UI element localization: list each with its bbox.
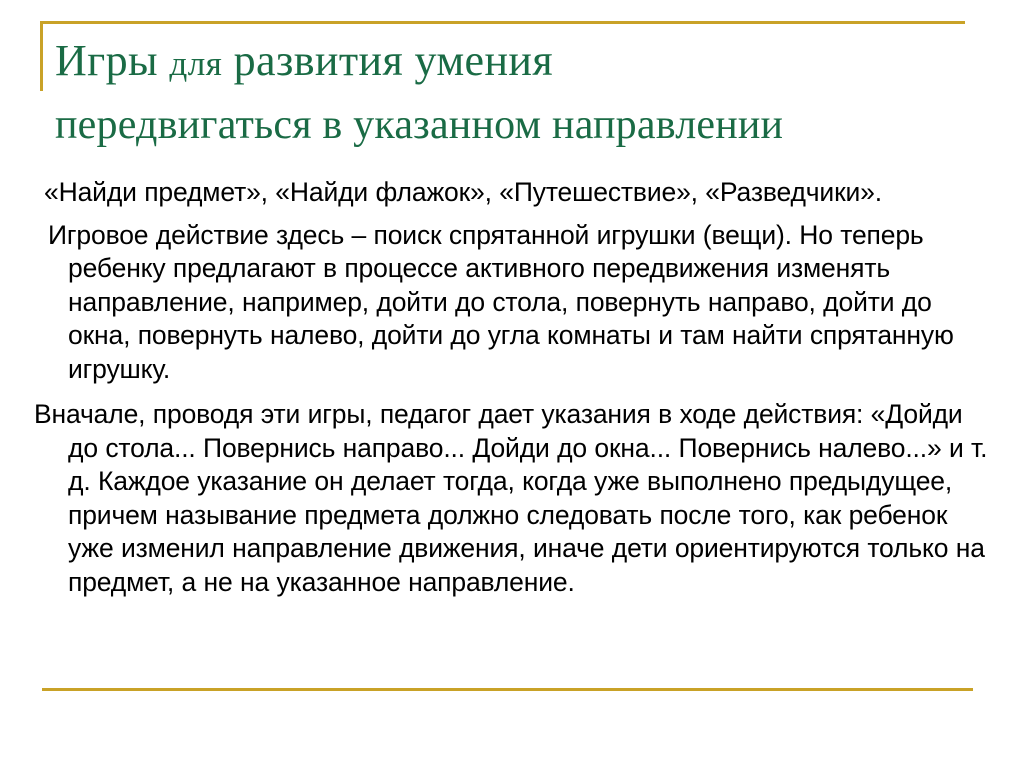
slide-title-line-1: Игры для развития умения [55,30,995,95]
slide-title-line-2: передвигаться в указанном направлении [55,95,995,155]
slide-body: «Найди предмет», «Найди флажок», «Путеше… [22,176,997,608]
body-paragraph: Вначале, проводя эти игры, педагог дает … [22,398,997,599]
slide-title-line-1-part-1: Игры [55,36,169,85]
top-left-accent-stub [40,21,43,91]
bottom-accent-rule [42,688,973,691]
body-paragraph: Игровое действие здесь – поиск спрятанно… [22,219,997,387]
slide-title: Игры для развития умения передвигаться в… [55,30,995,155]
slide-title-line-1-small-word: для [169,44,222,83]
slide-title-line-1-part-2: развития умения [222,36,553,85]
presentation-slide: Игры для развития умения передвигаться в… [0,0,1024,767]
body-paragraph: «Найди предмет», «Найди флажок», «Путеше… [22,176,997,210]
top-accent-rule [40,21,965,24]
